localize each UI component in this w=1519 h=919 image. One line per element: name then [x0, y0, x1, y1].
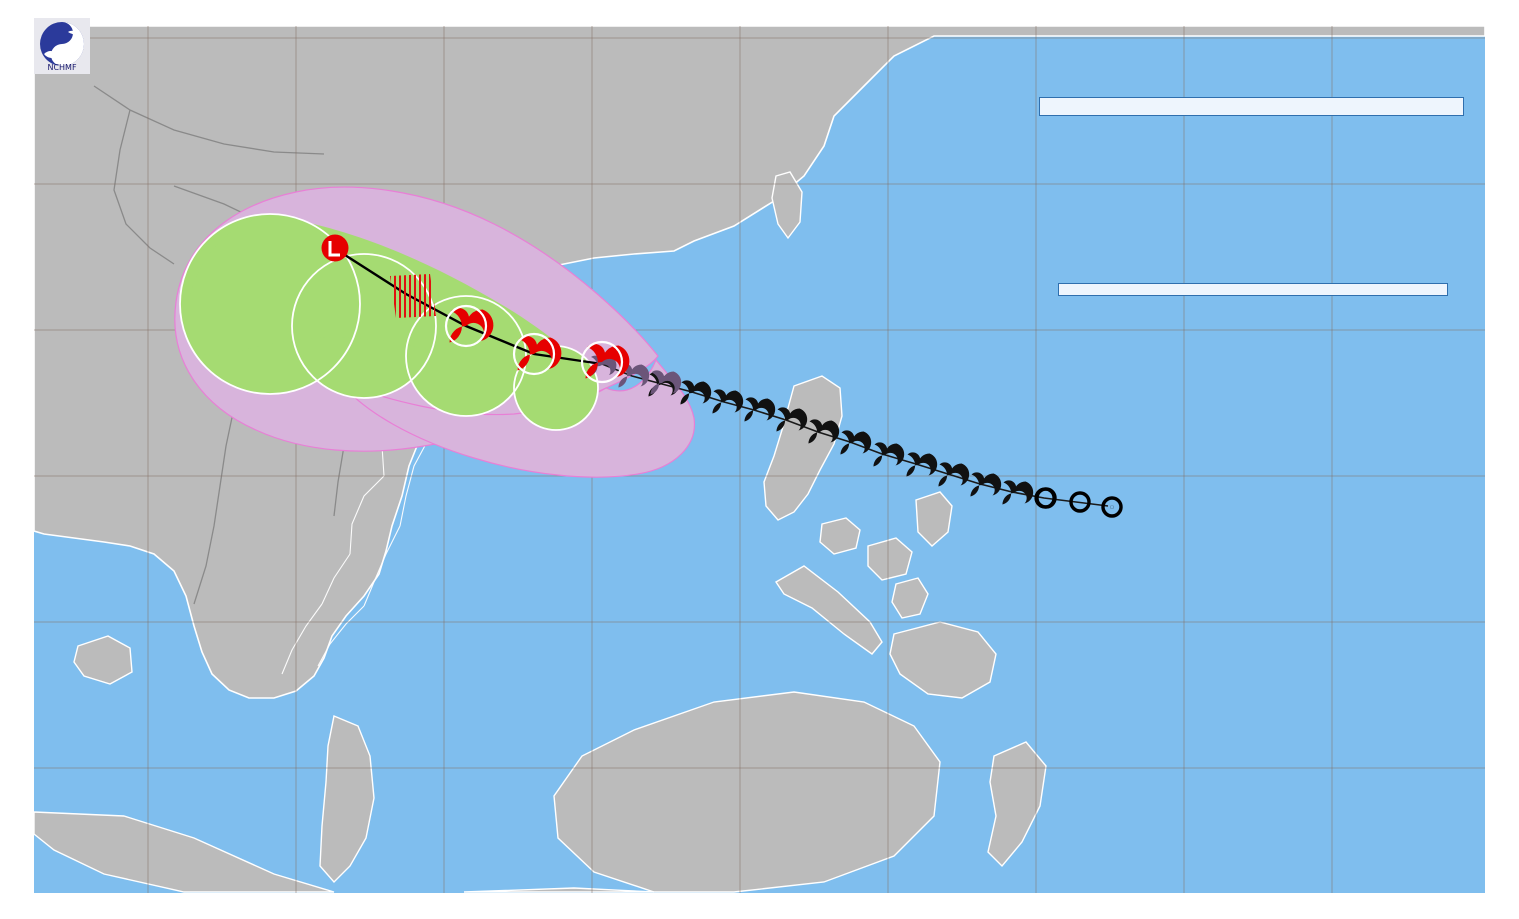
forecast-table	[1048, 107, 1455, 108]
axis-top	[0, 0, 1519, 26]
col-lon	[1184, 107, 1252, 108]
nchmf-emblem-icon: NCHMF	[34, 18, 90, 74]
svg-text:NCHMF: NCHMF	[47, 63, 76, 72]
axis-left	[0, 26, 34, 919]
col-pmin	[1387, 107, 1455, 108]
map-legend	[1058, 283, 1448, 296]
col-datetime	[1048, 107, 1116, 108]
map-canvas[interactable]	[34, 26, 1485, 893]
storm-info-panel	[1039, 97, 1464, 116]
storm-track-layer	[34, 26, 1485, 893]
typhoon-forecast-map: NCHMF	[0, 0, 1519, 919]
col-lat	[1116, 107, 1184, 108]
forecast-table-header	[1048, 107, 1455, 108]
col-vmax	[1319, 107, 1387, 108]
low-pressure-marker	[322, 235, 349, 262]
col-cap	[1251, 107, 1319, 108]
landfall-hatch-area	[390, 274, 436, 318]
nchmf-logo: NCHMF	[34, 18, 99, 74]
